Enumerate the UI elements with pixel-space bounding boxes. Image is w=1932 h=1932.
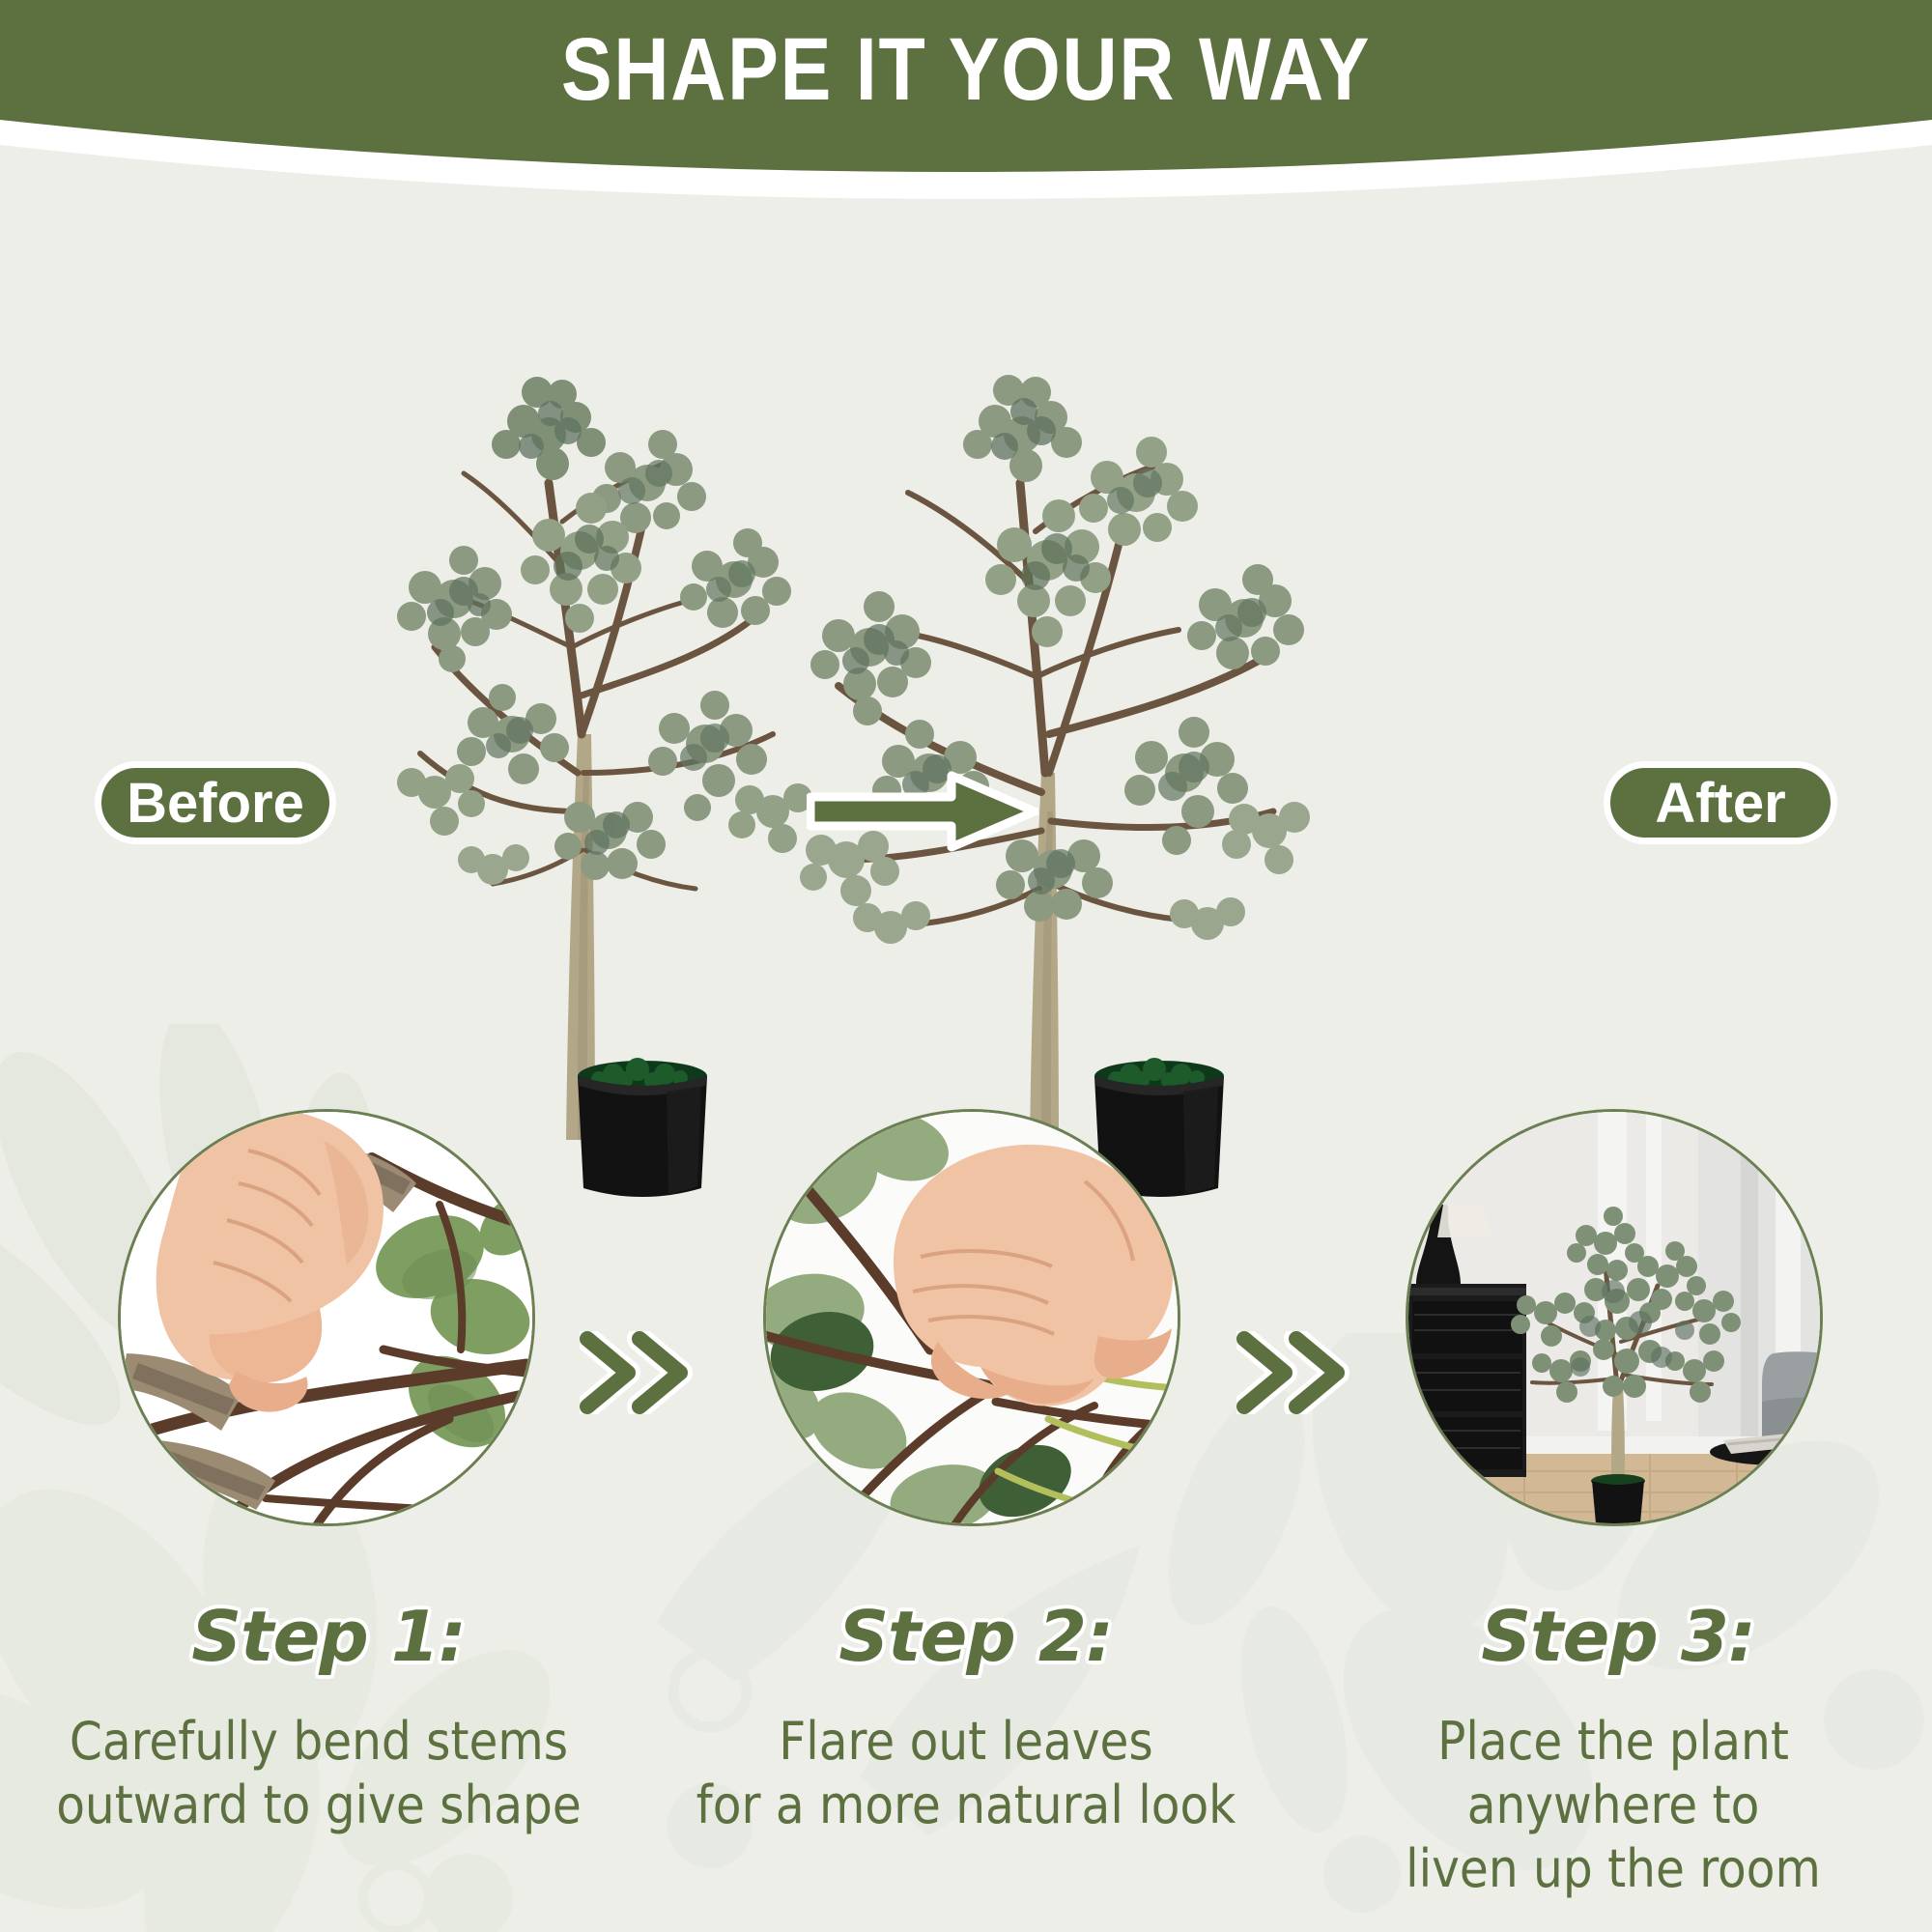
header-banner: SHAPE IT YOUR WAY [0,0,1932,232]
badge-before-label: Before [127,771,304,836]
step-1-caption-line-1: Carefully bend stems [0,1710,638,1774]
step-2-title: Step 2: [676,1599,1275,1674]
step-1-caption-line-2: outward to give shape [0,1774,638,1837]
step-3-caption-line-3: liven up the room [1294,1837,1932,1901]
step-3-caption: Place the plant anywhere to liven up the… [1294,1710,1932,1901]
infographic-canvas: SHAPE IT YOUR WAY [0,0,1932,1932]
step-1-caption: Carefully bend stems outward to give sha… [0,1710,638,1837]
arrow-right-icon [807,768,1038,855]
separator-chevron-1 [580,1331,696,1414]
step-2-image [763,1109,1180,1526]
badge-after: After [1604,761,1837,844]
step-3-title: Step 3: [1319,1599,1918,1674]
badge-after-label: After [1655,771,1785,836]
badge-before: Before [95,761,336,844]
step-3-caption-line-1: Place the plant [1294,1710,1932,1774]
step-3-caption-line-2: anywhere to [1294,1774,1932,1837]
page-title: SHAPE IT YOUR WAY [135,21,1797,118]
step-2-caption-line-1: Flare out leaves [647,1710,1285,1774]
step-1-title: Step 1: [29,1599,628,1674]
step-1-image [118,1109,535,1526]
before-pot-image [560,1053,724,1207]
separator-chevron-2 [1236,1331,1352,1414]
step-2-caption-line-2: for a more natural look [647,1774,1285,1837]
step-3-image [1406,1109,1823,1526]
step-2-caption: Flare out leaves for a more natural look [647,1710,1285,1837]
after-plant-image [763,193,1343,1159]
